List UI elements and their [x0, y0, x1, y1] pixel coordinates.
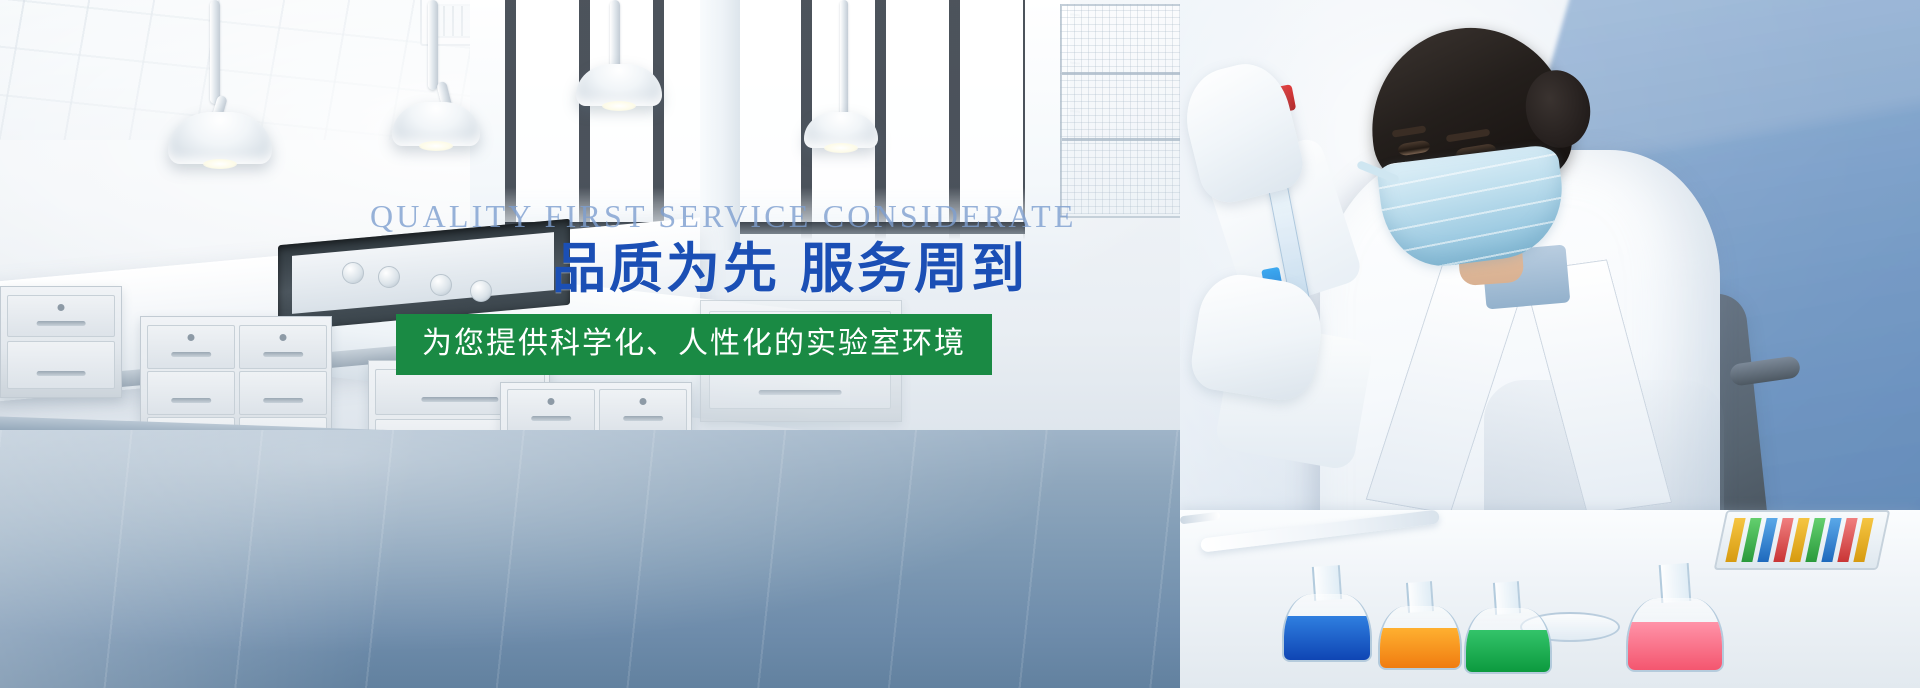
extraction-arm: [610, 0, 620, 72]
flask-body: [1626, 598, 1724, 672]
flask-body: [1464, 608, 1552, 674]
drawer-lock-icon: [188, 334, 195, 341]
hero-banner: QUALITY FIRST SERVICE CONSIDERATE 品质为先服务…: [0, 0, 1920, 688]
dome-lamp: [576, 64, 662, 106]
flask-liquid: [1380, 628, 1460, 668]
scientist-photo: [1180, 0, 1920, 688]
drawer: [147, 371, 235, 415]
drawer: [147, 325, 235, 369]
english-tagline: QUALITY FIRST SERVICE CONSIDERATE: [370, 200, 1028, 232]
flask-liquid: [1466, 630, 1550, 672]
drawer-lock-icon: [58, 304, 65, 311]
flask-body: [1282, 594, 1372, 662]
drawer: [7, 295, 115, 337]
tip-yellow: [1853, 518, 1873, 562]
subtitle-text: 为您提供科学化、人性化的实验室环境: [422, 327, 966, 360]
headline-part-1: 品质为先: [552, 237, 780, 300]
erlenmeyer-flask-blue: [1282, 566, 1368, 662]
headline-part-2: 服务周到: [800, 237, 1028, 300]
drawer: [239, 325, 327, 369]
dome-lamp: [804, 112, 878, 148]
drawer: [7, 341, 115, 389]
headline: 品质为先服务周到: [368, 240, 1028, 298]
flask-body: [1378, 606, 1462, 670]
banner-text-block: QUALITY FIRST SERVICE CONSIDERATE 品质为先服务…: [368, 200, 1028, 375]
bench-valve-icon: [342, 262, 364, 284]
drawer-lock-icon: [640, 398, 647, 405]
flask-liquid: [1284, 616, 1370, 660]
pipette-tip-rack: [1714, 510, 1891, 570]
erlenmeyer-flask-pink: [1626, 564, 1720, 672]
drawer: [507, 389, 595, 433]
drawer: [239, 371, 327, 415]
drawer-lock-icon: [280, 334, 287, 341]
subtitle-band: 为您提供科学化、人性化的实验室环境: [396, 314, 992, 375]
extraction-arm: [840, 0, 848, 118]
extraction-arm: [428, 0, 438, 90]
flask-neck: [1659, 563, 1692, 603]
erlenmeyer-flask-green: [1464, 582, 1548, 674]
drawer-lock-icon: [548, 398, 555, 405]
cabinet: [0, 286, 122, 398]
erlenmeyer-flask-orange: [1378, 582, 1458, 670]
drawer: [599, 389, 687, 433]
flask-liquid: [1628, 622, 1722, 670]
extraction-arm: [210, 0, 220, 104]
floor-reflection: [0, 430, 1200, 688]
